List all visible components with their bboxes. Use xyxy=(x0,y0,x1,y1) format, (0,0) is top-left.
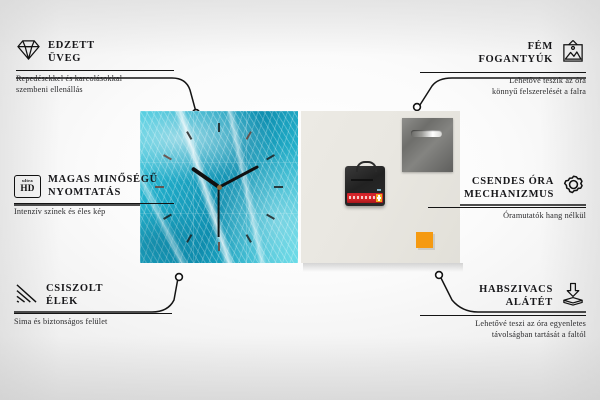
foam-pad-arrow-icon xyxy=(560,282,586,311)
feature-title-line1: MAGAS MINŐSÉGŰ xyxy=(48,174,158,187)
battery-terminal xyxy=(376,194,382,202)
wire-dot-fem-fogantyuk xyxy=(414,104,421,111)
polished-edges-icon xyxy=(14,282,39,309)
feature-title-line1: FÉM xyxy=(478,41,553,54)
feature-title-line1: HABSZIVACS xyxy=(479,284,553,297)
wire-dot-habszivacs xyxy=(436,272,443,279)
feature-title-line2: MECHANIZMUS xyxy=(464,189,554,202)
diamond-icon xyxy=(16,39,41,66)
feature-title-line2: ALÁTÉT xyxy=(479,297,553,310)
feature-desc-line1: Lehetővé teszi az óra egyenletes xyxy=(420,319,586,329)
feature-divider xyxy=(428,207,586,208)
feature-title-line2: ÜVEG xyxy=(48,53,95,66)
feature-desc-line2: távolságban tartását a faltól xyxy=(420,330,586,340)
hanger-slot xyxy=(411,130,442,137)
gear-icon xyxy=(561,174,586,203)
second-hand xyxy=(218,187,220,237)
feature-desc-line2: könnyű felszerelését a falra xyxy=(420,87,586,97)
tick-6 xyxy=(218,242,220,251)
foam-spacer-pad xyxy=(416,232,433,248)
hour-hand xyxy=(191,166,220,188)
tick-11 xyxy=(186,131,192,140)
feature-csiszolt-elek: CSISZOLT ÉLEK Sima és biztonságos felüle… xyxy=(14,282,172,328)
mechanism-seam xyxy=(351,179,373,181)
feature-fem-fogantyuk: FÉM FOGANTYÚK Lehetővé teszik az óra kön… xyxy=(420,39,586,97)
feature-edzett-uveg: EDZETT ÜVEG Repedésekkel és karcolásokka… xyxy=(16,39,174,95)
product-photo-group xyxy=(140,111,460,263)
feature-divider xyxy=(16,70,174,71)
feature-divider xyxy=(14,313,172,314)
tick-2 xyxy=(266,154,275,160)
tick-5 xyxy=(246,234,252,243)
feature-title-line2: NYOMTATÁS xyxy=(48,187,158,200)
minute-hand xyxy=(218,165,258,188)
feature-desc-line1: Repedésekkel és karcolásokkal xyxy=(16,74,174,84)
battery-label-stripes xyxy=(349,196,375,199)
tick-1 xyxy=(246,131,252,140)
mechanism-hanging-loop xyxy=(356,161,377,172)
feature-desc-line1: Intenzív színek és éles kép xyxy=(14,207,174,217)
feature-divider xyxy=(14,203,174,204)
tick-7 xyxy=(186,234,192,243)
tick-10 xyxy=(163,154,172,160)
infographic-canvas: EDZETT ÜVEG Repedésekkel és karcolásokka… xyxy=(0,0,600,400)
tick-3 xyxy=(274,186,283,188)
tick-12 xyxy=(218,123,220,132)
feature-divider xyxy=(420,315,586,316)
feature-title-line2: FOGANTYÚK xyxy=(478,54,553,67)
wire-dot-csiszolt xyxy=(176,274,183,281)
feature-title-line1: EDZETT xyxy=(48,40,95,53)
feature-desc-line1: Lehetővé teszik az óra xyxy=(420,76,586,86)
feature-magas-minosegu-nyomtatas: ultra HD MAGAS MINŐSÉGŰ NYOMTATÁS Intenz… xyxy=(14,174,174,218)
battery xyxy=(347,193,383,203)
clock-mechanism xyxy=(345,166,385,206)
feature-title-line1: CSENDES ÓRA xyxy=(464,176,554,189)
metal-hanger-plate xyxy=(402,118,453,172)
feature-csendes-ora-mechanizmus: CSENDES ÓRA MECHANIZMUS Óramutatók hang … xyxy=(428,174,586,222)
feature-desc-line1: Óramutatók hang nélkül xyxy=(428,211,586,221)
feature-title-line2: ÉLEK xyxy=(46,296,103,309)
hand-center-cap xyxy=(217,185,222,190)
mechanism-indicator xyxy=(377,189,381,191)
feature-desc-line2: szembeni ellenállás xyxy=(16,85,174,95)
feature-habszivacs-alatet: HABSZIVACS ALÁTÉT Lehetővé teszi az óra … xyxy=(420,282,586,340)
picture-frame-hanger-icon xyxy=(560,39,586,68)
feature-desc-line1: Sima és biztonságos felület xyxy=(14,317,172,327)
ultra-hd-icon-main-text: HD xyxy=(20,184,34,193)
tick-4 xyxy=(266,214,275,220)
feature-divider xyxy=(420,72,586,73)
feature-title-line1: CSISZOLT xyxy=(46,283,103,296)
ultra-hd-icon: ultra HD xyxy=(14,175,41,198)
